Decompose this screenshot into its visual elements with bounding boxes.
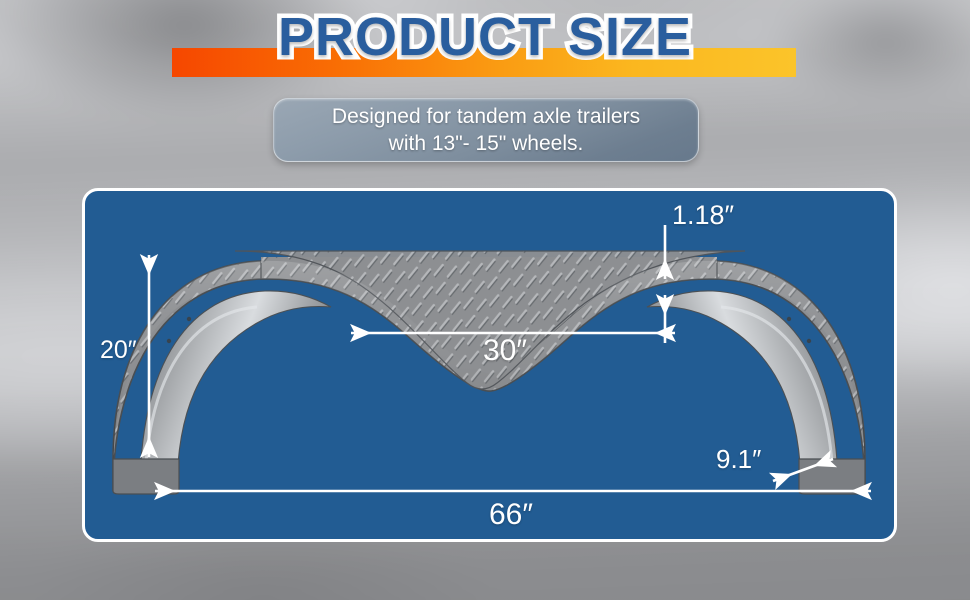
- dimension-label-66in: 66″: [489, 498, 533, 532]
- dimension-label-1-18in: 1.18″: [672, 200, 734, 231]
- dimension-label-9-1in: 9.1″: [716, 444, 761, 475]
- subtitle-box: Designed for tandem axle trailers with 1…: [273, 98, 699, 162]
- dimension-label-20in: 20″: [100, 336, 137, 365]
- subtitle-text: Designed for tandem axle trailers with 1…: [332, 103, 640, 157]
- dimension-label-30in: 30″: [483, 334, 527, 368]
- page-title: PRODUCT SIZE: [0, 6, 970, 68]
- product-size-infographic: PRODUCT SIZE Designed for tandem axle tr…: [0, 0, 970, 600]
